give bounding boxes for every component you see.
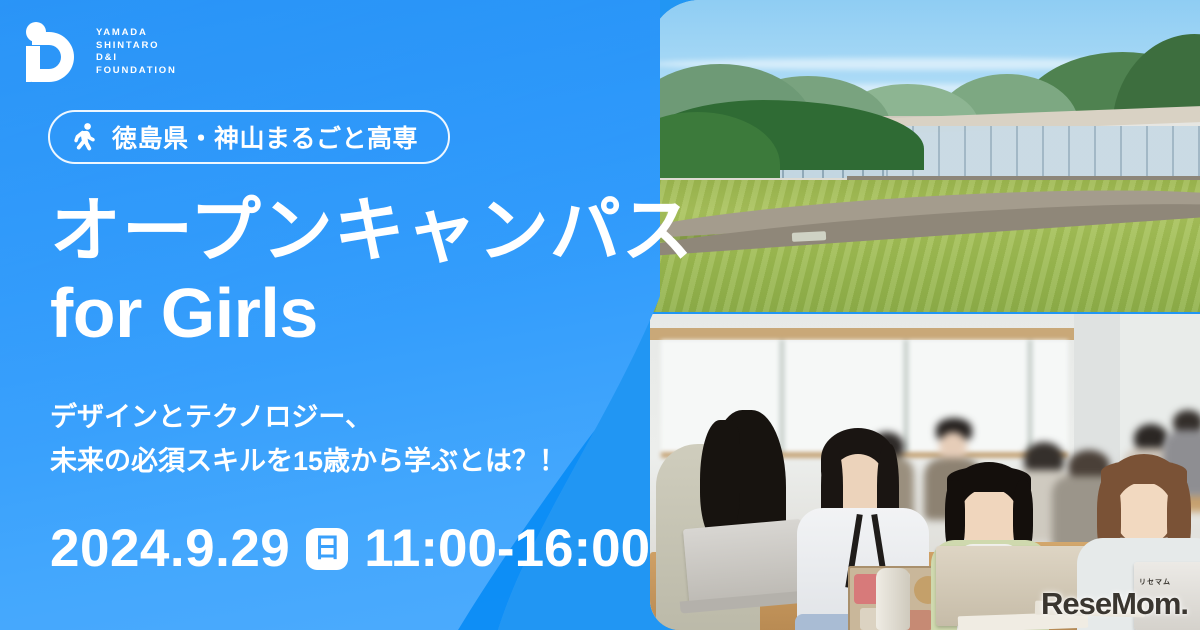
photo-column: ReseMom. リセマム <box>648 0 1200 630</box>
walking-person-icon <box>72 122 98 152</box>
subtitle: デザインとテクノロジー、 未来の必須スキルを15歳から学ぶとは？！ <box>50 396 566 483</box>
foundation-name-line: SHINTARO <box>96 40 177 53</box>
id-monogram-icon <box>26 22 84 82</box>
location-badge-label: 徳島県・神山まるごと高専 <box>112 119 418 155</box>
foundation-name-line: FOUNDATION <box>96 65 177 78</box>
logo-d-shape <box>26 46 74 82</box>
page-title: オープンキャンパス for Girls <box>50 196 694 353</box>
watermark-ruby: リセマム <box>1139 577 1171 587</box>
classroom-students-photo: ReseMom. リセマム <box>650 314 1200 630</box>
foundation-name-line: D&I <box>96 52 177 65</box>
weekday-badge: 日 <box>306 528 348 570</box>
event-date: 2024.9.29 <box>50 522 290 575</box>
location-badge[interactable]: 徳島県・神山まるごと高専 <box>48 110 450 164</box>
water-bottle <box>876 568 910 630</box>
subtitle-line-1: デザインとテクノロジー、 <box>50 396 566 440</box>
foundation-logo[interactable]: YAMADA SHINTARO D&I FOUNDATION <box>26 22 177 82</box>
event-time: 11:00-16:00 <box>364 522 650 575</box>
campus-exterior-photo <box>648 0 1200 312</box>
headline-line-en: for Girls <box>50 274 694 352</box>
resemom-watermark: ReseMom. リセマム <box>1041 586 1188 622</box>
lawn-marker-block <box>791 231 825 242</box>
logo-bowl <box>32 32 74 82</box>
headline-line-jp: オープンキャンパス <box>50 196 694 268</box>
window-sill <box>650 328 1079 340</box>
foundation-name-line: YAMADA <box>96 27 177 40</box>
watermark-text: ReseMom. <box>1041 586 1188 622</box>
subtitle-line-2: 未来の必須スキルを15歳から学ぶとは？！ <box>50 440 566 484</box>
event-banner: ReseMom. リセマム YAMADA SHINTARO D&I FOUNDA… <box>0 0 1200 630</box>
event-datetime: 2024.9.29 日 11:00-16:00 <box>50 522 650 575</box>
foundation-name: YAMADA SHINTARO D&I FOUNDATION <box>96 27 177 77</box>
